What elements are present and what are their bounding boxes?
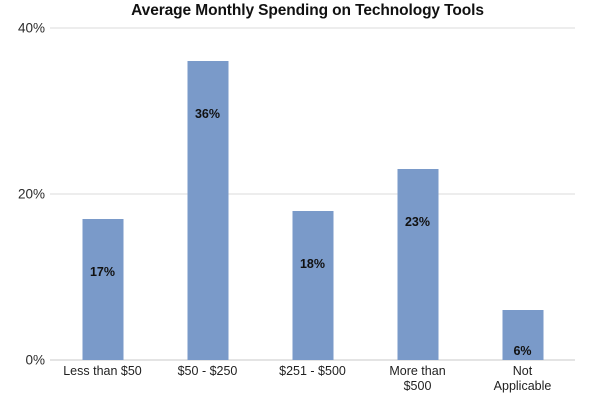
bar[interactable] — [397, 169, 438, 360]
x-axis-tick-label: $251 - $500 — [260, 364, 365, 379]
bar[interactable] — [187, 61, 228, 360]
bar-value-label: 36% — [195, 107, 220, 121]
bar-value-label: 18% — [300, 257, 325, 271]
bar-group: 36% — [155, 28, 260, 360]
plot-area: 17%36%18%23%6% — [50, 28, 575, 360]
bar-value-label: 6% — [513, 344, 531, 358]
x-axis-tick-label-line: Less than $50 — [63, 364, 142, 378]
x-axis-tick-label: NotApplicable — [470, 364, 575, 394]
x-axis-tick-label: More than$500 — [365, 364, 470, 394]
bar-value-label: 17% — [90, 265, 115, 279]
bar-group: 23% — [365, 28, 470, 360]
x-axis-tick-label-line: Not — [513, 364, 532, 378]
x-axis-tick-label-line: Applicable — [470, 379, 575, 394]
bar-value-label: 23% — [405, 215, 430, 229]
bar-group: 17% — [50, 28, 155, 360]
y-axis-tick-label: 20% — [1, 187, 45, 202]
chart-title: Average Monthly Spending on Technology T… — [30, 2, 585, 20]
x-axis-tick-label-line: $50 - $250 — [178, 364, 238, 378]
y-axis-tick-label: 40% — [1, 21, 45, 36]
bar-group: 18% — [260, 28, 365, 360]
x-axis-tick-label-line: $500 — [365, 379, 470, 394]
bar-group: 6% — [470, 28, 575, 360]
y-axis: 0%20%40% — [0, 28, 45, 360]
x-axis-tick-label-line: $251 - $500 — [279, 364, 346, 378]
bar[interactable] — [292, 211, 333, 360]
bar[interactable] — [82, 219, 123, 360]
x-axis-tick-label-line: More than — [389, 364, 445, 378]
y-axis-tick-label: 0% — [1, 353, 45, 368]
bar-chart: Average Monthly Spending on Technology T… — [0, 0, 600, 400]
x-axis-tick-label: Less than $50 — [50, 364, 155, 379]
x-axis: Less than $50$50 - $250$251 - $500More t… — [50, 364, 575, 400]
x-axis-tick-label: $50 - $250 — [155, 364, 260, 379]
